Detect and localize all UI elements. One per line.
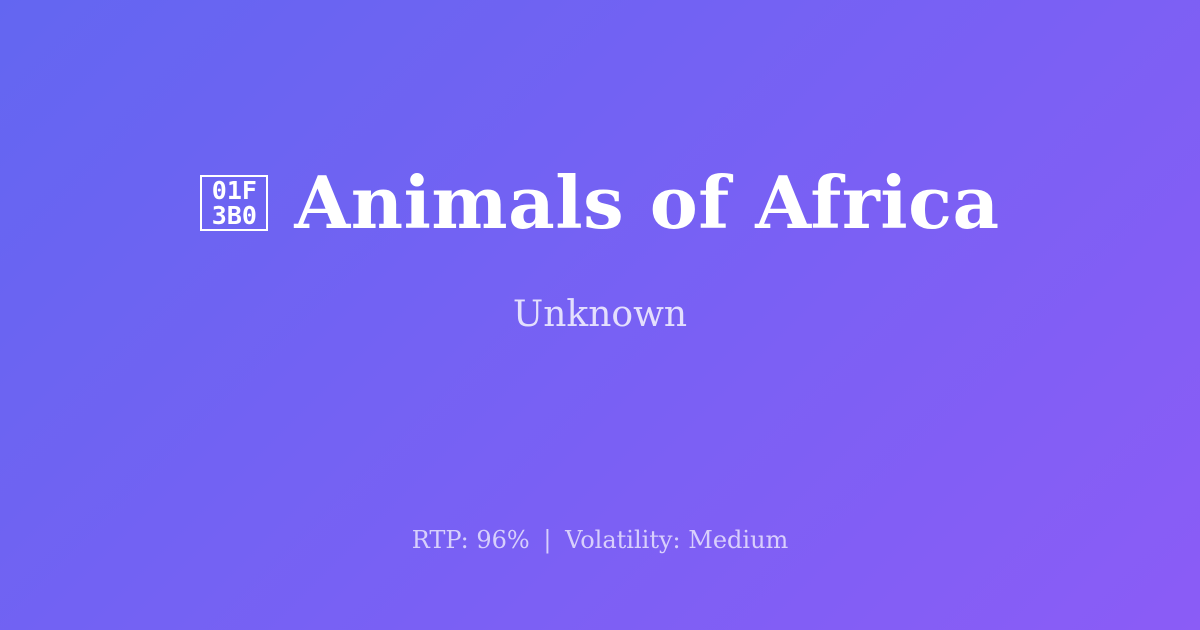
- hero-section: 01F 3B0 Animals of Africa Unknown: [0, 0, 1200, 500]
- glyph-codepoint-bottom: 3B0: [212, 203, 257, 228]
- game-promo-card: 01F 3B0 Animals of Africa Unknown RTP: 9…: [0, 0, 1200, 630]
- title-row: 01F 3B0 Animals of Africa: [200, 167, 999, 239]
- slot-machine-icon: 01F 3B0: [200, 175, 268, 231]
- footer-separator: |: [537, 526, 557, 554]
- page-title: Animals of Africa: [294, 167, 999, 239]
- glyph-codepoint-top: 01F: [212, 178, 257, 203]
- rtp-value: 96%: [476, 526, 529, 554]
- rtp-label: RTP:: [412, 526, 469, 554]
- provider-subtitle: Unknown: [513, 297, 687, 333]
- volatility-value: Medium: [688, 526, 788, 554]
- game-stats-footer: RTP: 96% | Volatility: Medium: [0, 528, 1200, 552]
- volatility-label: Volatility:: [565, 526, 681, 554]
